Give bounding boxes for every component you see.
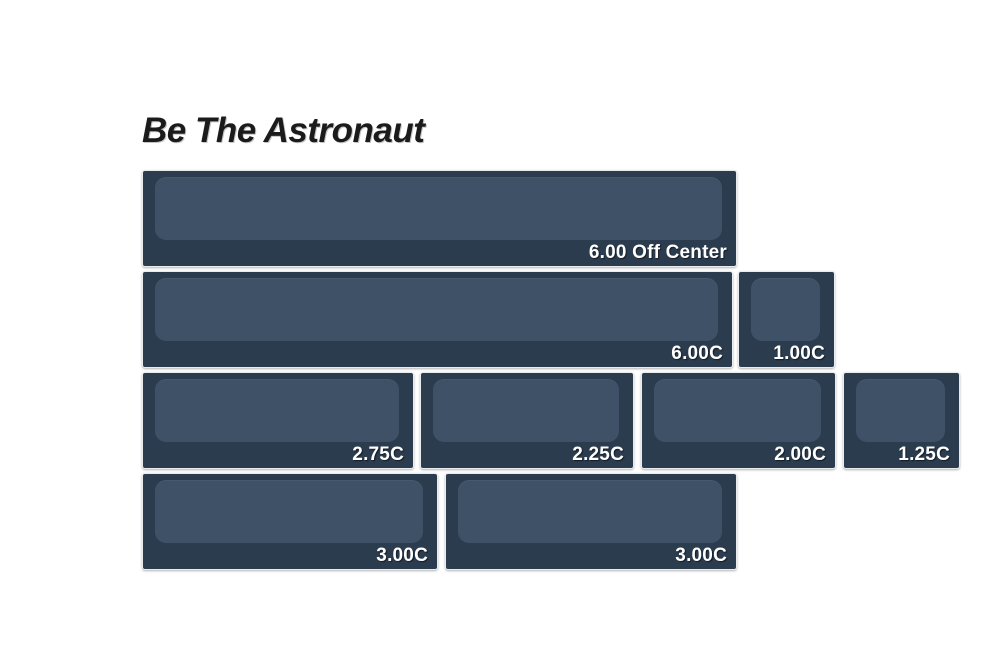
- keycap-surface: [856, 379, 945, 442]
- keycap-surface: [751, 278, 820, 341]
- keycap[interactable]: 1.25C: [843, 372, 960, 469]
- layout-canvas: Be The Astronaut 6.00 Off Center6.00C1.0…: [0, 0, 990, 668]
- keycap-surface: [155, 480, 423, 543]
- keyboard-layout: 6.00 Off Center6.00C1.00C2.75C2.25C2.00C…: [0, 0, 990, 668]
- keycap-label: 6.00 Off Center: [589, 242, 727, 264]
- keycap-label: 2.00C: [774, 444, 826, 466]
- keycap-label: 3.00C: [675, 545, 727, 567]
- keycap-surface: [654, 379, 821, 442]
- keycap-label: 2.25C: [572, 444, 624, 466]
- keycap[interactable]: 1.00C: [738, 271, 835, 368]
- keycap[interactable]: 6.00C: [142, 271, 733, 368]
- keycap-surface: [458, 480, 722, 543]
- keycap[interactable]: 3.00C: [445, 473, 737, 570]
- keycap[interactable]: 2.25C: [420, 372, 634, 469]
- keycap-label: 3.00C: [376, 545, 428, 567]
- keycap-label: 1.00C: [773, 343, 825, 365]
- keycap[interactable]: 2.75C: [142, 372, 414, 469]
- keycap-label: 1.25C: [898, 444, 950, 466]
- keycap-surface: [155, 177, 722, 240]
- keycap-surface: [433, 379, 619, 442]
- keycap-surface: [155, 278, 718, 341]
- keycap[interactable]: 6.00 Off Center: [142, 170, 737, 267]
- keycap[interactable]: 2.00C: [641, 372, 836, 469]
- keycap-label: 2.75C: [352, 444, 404, 466]
- keycap-surface: [155, 379, 399, 442]
- keycap-label: 6.00C: [671, 343, 723, 365]
- keycap[interactable]: 3.00C: [142, 473, 438, 570]
